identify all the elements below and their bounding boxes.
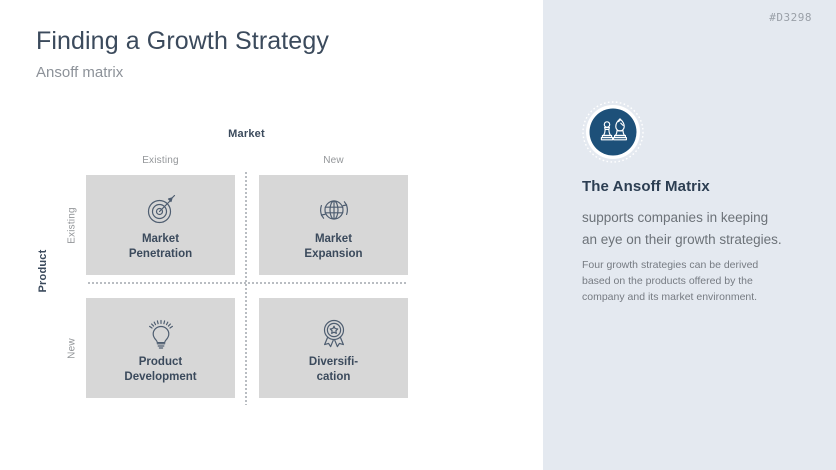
matrix-column-label-new: New [259,155,408,166]
ansoff-matrix: Market Existing New Product Existing New… [0,0,470,470]
quadrant-market-expansion[interactable]: Market Expansion [259,175,408,275]
award-star-icon [316,315,352,351]
globe-arrows-icon [316,192,352,228]
matrix-column-label-existing: Existing [86,155,235,166]
sidebar-lead-text: supports companies in keeping an eye on … [582,207,817,251]
matrix-vertical-divider [245,172,247,405]
sidebar-body-text: Four growth strategies can be derived ba… [582,258,782,306]
matrix-row-label-existing: Existing [67,176,78,276]
slide-canvas: Finding a Growth Strategy Ansoff matrix … [0,0,836,470]
chess-pieces-icon [582,101,644,163]
quadrant-label: Diversifi- cation [309,355,358,385]
matrix-x-axis-title: Market [86,128,407,140]
quadrant-label: Market Expansion [304,232,362,262]
sidebar-heading: The Ansoff Matrix [582,178,710,195]
quadrant-market-penetration[interactable]: Market Penetration [86,175,235,275]
matrix-horizontal-divider [88,282,408,284]
slide-code: #D3298 [769,11,812,24]
quadrant-label: Product Development [124,355,196,385]
quadrant-label: Market Penetration [129,232,192,262]
matrix-row-label-new: New [67,299,78,399]
lightbulb-icon [143,315,179,351]
quadrant-product-development[interactable]: Product Development [86,298,235,398]
info-sidebar: #D3298 [543,0,836,470]
matrix-y-axis-title: Product [37,221,49,321]
quadrant-diversification[interactable]: Diversifi- cation [259,298,408,398]
target-icon [143,192,179,228]
